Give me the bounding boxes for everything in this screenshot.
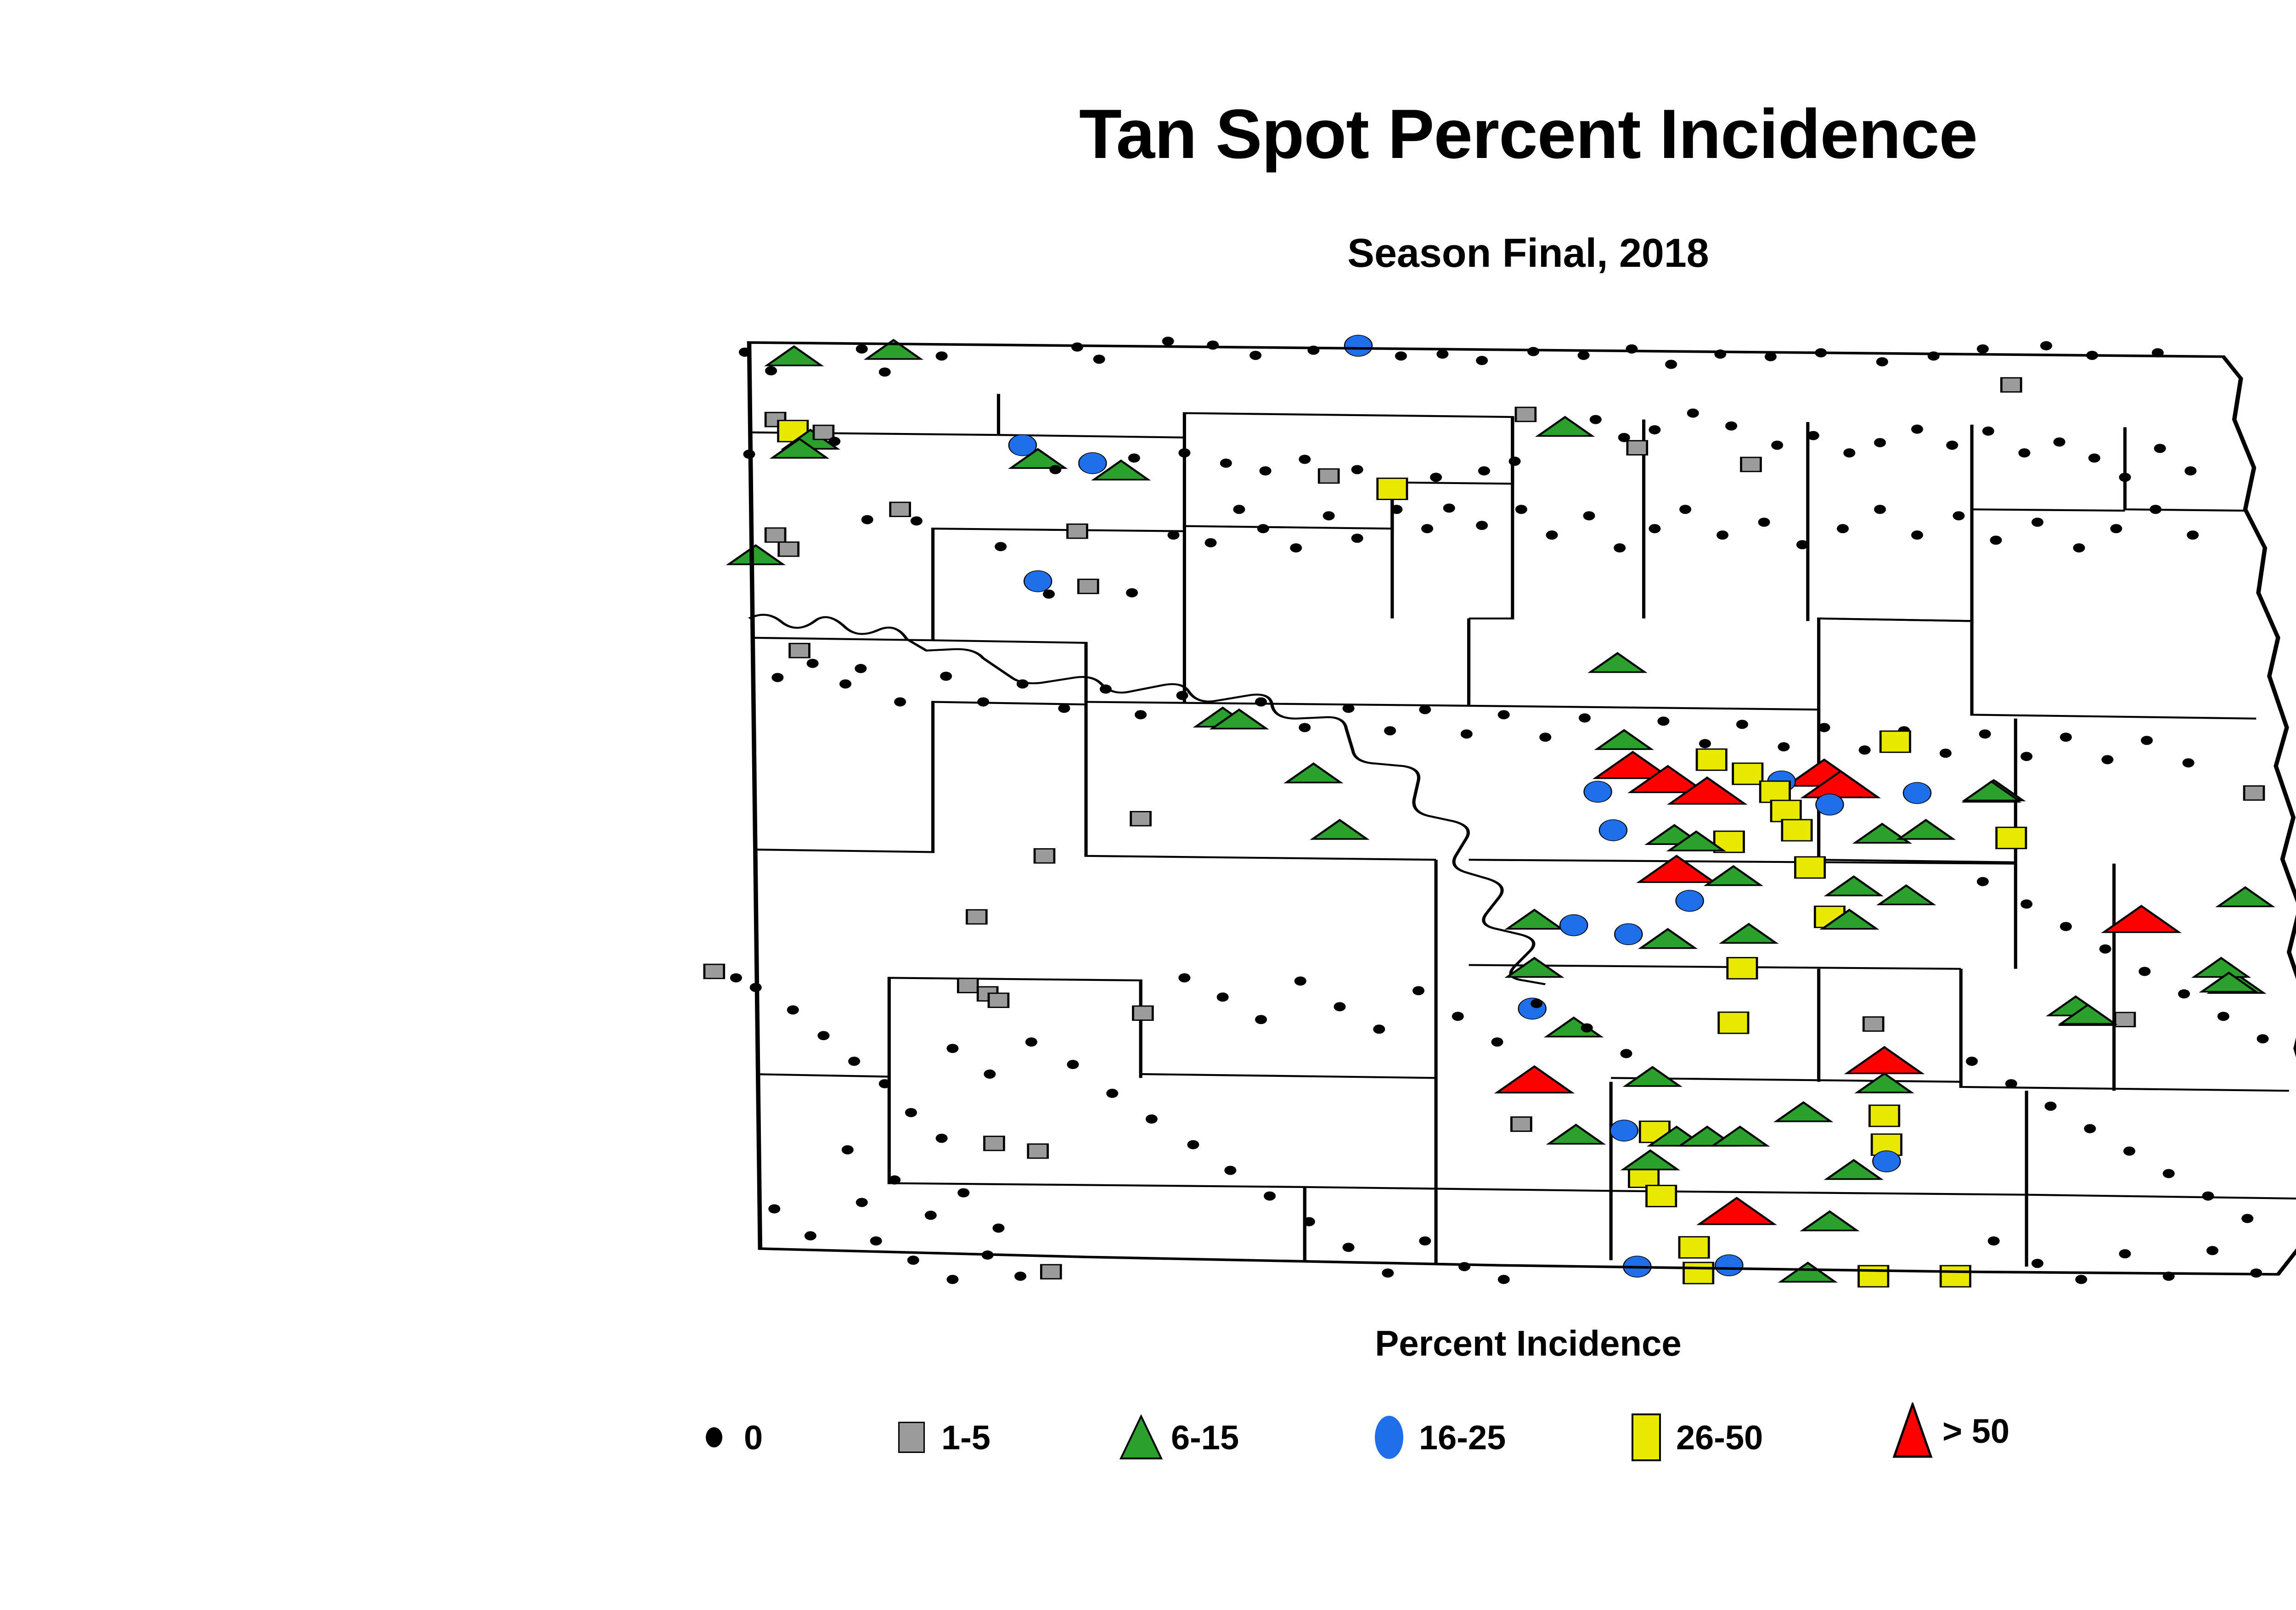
marker-0 [977, 697, 989, 706]
marker-0 [1135, 710, 1147, 719]
marker-0 [1421, 524, 1433, 533]
marker-0 [1665, 360, 1677, 369]
marker-26-50 [1859, 1266, 1888, 1287]
yellow-square-icon [1621, 1410, 1671, 1465]
legend-label-0: 0 [744, 1418, 763, 1457]
map-svg [670, 317, 2296, 1318]
marker-0 [1874, 505, 1886, 514]
marker-0 [1859, 745, 1871, 754]
marker-0 [1128, 453, 1140, 462]
marker-26-50 [1941, 1266, 1970, 1287]
marker-0 [1204, 538, 1216, 547]
marker-0 [839, 679, 851, 688]
marker-0 [856, 1198, 868, 1207]
legend-title: Percent Incidence [0, 1323, 2296, 1364]
marker-0 [1249, 351, 1261, 360]
marker-0 [911, 516, 923, 525]
marker-0 [1049, 465, 1061, 474]
marker-0 [2020, 900, 2032, 909]
marker-0 [1509, 456, 1521, 466]
marker-0 [1476, 356, 1488, 365]
marker-0 [1539, 732, 1551, 742]
marker-0 [1343, 1243, 1355, 1252]
marker-0 [2154, 444, 2166, 453]
marker-16-25 [1873, 1151, 1900, 1172]
marker-0 [1679, 505, 1691, 514]
marker-0 [1343, 704, 1355, 713]
marker-16-25 [1345, 335, 1372, 356]
marker-0 [1837, 524, 1849, 533]
marker-0 [1162, 337, 1174, 346]
marker-0 [936, 1134, 948, 1143]
marker-0 [1443, 503, 1455, 512]
marker-0 [1515, 505, 1527, 514]
marker-1-5 [704, 964, 724, 979]
marker-1-5 [779, 542, 799, 557]
marker-0 [1260, 466, 1272, 475]
marker-0 [1946, 440, 1958, 450]
marker-1-5 [985, 1137, 1004, 1151]
marker-0 [1058, 704, 1070, 713]
legend-label-2: 6-15 [1171, 1418, 1239, 1457]
marker-26-50 [1760, 781, 1790, 802]
marker-0 [2005, 1079, 2017, 1088]
marker-0 [2075, 1275, 2087, 1284]
marker-0 [1390, 505, 1402, 514]
marker-0 [2184, 466, 2196, 475]
marker-16-25 [1816, 794, 1843, 815]
marker-0 [1290, 543, 1302, 552]
marker-0 [2040, 341, 2052, 350]
marker-0 [946, 1275, 958, 1284]
marker-1-5 [1516, 407, 1536, 422]
marker-26-50 [1378, 478, 1407, 499]
green-triangle-icon [1116, 1410, 1166, 1465]
marker-0 [1373, 1025, 1385, 1034]
marker-0 [2183, 758, 2195, 767]
marker-0 [1207, 340, 1219, 349]
marker-16-25 [1024, 571, 1052, 592]
marker-0 [1977, 877, 1989, 886]
marker-26-50 [1679, 1237, 1709, 1258]
marker-1-5 [1035, 849, 1054, 863]
marker-16-25 [1560, 915, 1587, 936]
marker-1-5 [1028, 1144, 1048, 1158]
black-dot-icon [689, 1410, 739, 1465]
marker-0 [1257, 524, 1269, 533]
marker-1-5 [1627, 441, 1647, 455]
marker-0 [1299, 723, 1311, 732]
marker-0 [807, 659, 819, 668]
marker-0 [1126, 588, 1138, 597]
marker-0 [1657, 716, 1669, 726]
marker-0 [1911, 530, 1923, 540]
marker-0 [1220, 459, 1232, 468]
marker-0 [905, 1108, 917, 1117]
marker-0 [2150, 505, 2161, 514]
marker-0 [1187, 1140, 1199, 1149]
marker-0 [768, 1204, 780, 1213]
marker-1-5 [1068, 524, 1087, 538]
marker-16-25 [1584, 781, 1612, 802]
marker-0 [1071, 343, 1083, 352]
marker-0 [1294, 976, 1306, 985]
marker-1-5 [890, 502, 910, 517]
marker-1-5 [967, 910, 986, 924]
marker-0 [936, 351, 948, 360]
marker-0 [1299, 455, 1311, 464]
marker-0 [1100, 685, 1112, 694]
marker-0 [879, 367, 891, 377]
marker-26-50 [1880, 731, 1910, 752]
marker-26-50 [1795, 857, 1824, 878]
marker-0 [730, 973, 742, 982]
marker-0 [771, 673, 783, 682]
marker-0 [787, 1005, 799, 1014]
marker-26-50 [1733, 763, 1762, 784]
marker-0 [861, 515, 873, 524]
marker-0 [1498, 1275, 1510, 1284]
legend-item-4[interactable]: 26-50 [1621, 1410, 1763, 1465]
marker-26-50 [1869, 1105, 1899, 1126]
marker-0 [870, 1236, 882, 1245]
marker-0 [1581, 1023, 1593, 1032]
marker-0 [1583, 511, 1595, 520]
marker-1-5 [1319, 469, 1339, 483]
marker-0 [1395, 351, 1407, 360]
marker-0 [2206, 1246, 2218, 1255]
marker-0 [894, 697, 906, 706]
legend-item-1[interactable]: 1-5 [886, 1410, 990, 1465]
marker-0 [1255, 1015, 1267, 1024]
marker-0 [1436, 349, 1448, 359]
marker-0 [1498, 710, 1510, 719]
marker-0 [2099, 944, 2111, 953]
marker-0 [2084, 1124, 2096, 1133]
marker-1-5 [765, 528, 785, 542]
marker-0 [1736, 720, 1748, 729]
marker-0 [1017, 679, 1029, 688]
legend-label-5: > 50 [1942, 1412, 2009, 1451]
marker-1-5 [1078, 580, 1098, 594]
marker-26-50 [1782, 820, 1812, 841]
marker-0 [1940, 749, 1952, 758]
marker-0 [2073, 543, 2085, 552]
marker-0 [2032, 1259, 2043, 1268]
marker-0 [995, 542, 1007, 551]
marker-26-50 [1719, 1012, 1748, 1033]
marker-0 [957, 1188, 969, 1198]
marker-0 [1025, 1037, 1037, 1047]
blue-circle-icon [1364, 1410, 1414, 1465]
marker-0 [2163, 1169, 2175, 1178]
marker-0 [1146, 1115, 1158, 1124]
marker-0 [2141, 736, 2153, 745]
marker-0 [1546, 530, 1558, 540]
marker-0 [1491, 1037, 1503, 1047]
marker-0 [1579, 713, 1591, 722]
marker-16-25 [1676, 890, 1704, 912]
marker-0 [1382, 1268, 1394, 1278]
red-triangle-icon [1887, 1403, 1938, 1458]
marker-0 [1476, 521, 1488, 530]
marker-0 [1430, 473, 1442, 482]
marker-26-50 [1697, 749, 1726, 770]
marker-0 [1771, 440, 1783, 450]
marker-0 [992, 1223, 1004, 1233]
marker-0 [2054, 438, 2065, 447]
marker-0 [2020, 752, 2032, 761]
marker-16-25 [1079, 453, 1106, 474]
marker-0 [1478, 466, 1490, 475]
marker-1-5 [1133, 1006, 1153, 1020]
marker-1-5 [1741, 457, 1761, 472]
marker-26-50 [1647, 1185, 1676, 1206]
marker-0 [855, 664, 867, 673]
marker-0 [1649, 524, 1660, 533]
marker-0 [1807, 431, 1819, 440]
gray-square-icon [886, 1410, 937, 1465]
marker-1-5 [2115, 1013, 2135, 1027]
marker-0 [1531, 999, 1542, 1008]
marker-0 [2088, 453, 2100, 462]
legend-item-2[interactable]: 6-15 [1116, 1410, 1239, 1465]
marker-1-5 [2001, 378, 2021, 392]
marker-0 [2060, 732, 2072, 742]
marker-0 [1843, 448, 1855, 457]
marker-0 [828, 437, 840, 446]
marker-1-5 [1131, 811, 1151, 826]
marker-0 [765, 366, 777, 375]
marker-26-50 [1684, 1262, 1713, 1283]
legend-item-5[interactable]: > 50 [1887, 1403, 2009, 1458]
marker-0 [2101, 755, 2113, 764]
marker-1-5 [790, 643, 810, 658]
marker-0 [1452, 1012, 1464, 1021]
marker-0 [879, 1079, 891, 1088]
north-dakota-map [670, 317, 2296, 1318]
marker-26-50 [1771, 800, 1801, 822]
marker-0 [1351, 534, 1363, 543]
marker-0 [1067, 1060, 1079, 1069]
marker-0 [805, 1231, 816, 1240]
marker-0 [2119, 473, 2131, 482]
marker-0 [2119, 1249, 2131, 1258]
marker-16-25 [1715, 1255, 1743, 1276]
marker-26-50 [1997, 828, 2026, 849]
marker-0 [1796, 540, 1808, 549]
legend-label-4: 26-50 [1676, 1418, 1763, 1457]
marker-0 [1966, 1057, 1978, 1066]
marker-0 [2110, 524, 2122, 533]
page-title: Tan Spot Percent Incidence [0, 94, 2296, 175]
marker-0 [1953, 511, 1964, 520]
legend-label-1: 1-5 [941, 1418, 990, 1457]
marker-0 [1334, 1002, 1346, 1011]
marker-0 [1979, 729, 1991, 738]
legend-label-3: 16-25 [1419, 1418, 1506, 1457]
marker-0 [2032, 518, 2043, 527]
marker-0 [842, 1145, 854, 1154]
marker-0 [1043, 590, 1055, 599]
map-figure: Tan Spot Percent Incidence Season Final,… [0, 0, 2296, 1610]
marker-0 [1614, 543, 1626, 552]
marker-0 [1419, 1236, 1431, 1245]
marker-0 [1412, 986, 1424, 995]
marker-0 [1990, 535, 2002, 545]
marker-0 [889, 1176, 900, 1185]
marker-1-5 [1863, 1017, 1883, 1031]
legend-item-3[interactable]: 16-25 [1364, 1410, 1506, 1465]
marker-0 [925, 1210, 937, 1220]
marker-0 [1716, 530, 1728, 540]
marker-0 [1224, 1166, 1236, 1175]
marker-0 [2217, 1012, 2229, 1021]
marker-0 [1725, 422, 1737, 431]
marker-0 [1687, 409, 1699, 418]
marker-0 [2018, 448, 2030, 457]
marker-0 [1217, 992, 1229, 1002]
marker-0 [2241, 1214, 2253, 1223]
marker-0 [1323, 511, 1335, 520]
state-fill [749, 343, 2296, 1274]
marker-0 [2060, 922, 2072, 931]
marker-0 [1093, 355, 1105, 364]
marker-0 [1982, 427, 1994, 436]
marker-0 [2257, 1034, 2269, 1043]
marker-0 [946, 1044, 958, 1053]
marker-0 [1264, 1191, 1276, 1200]
marker-0 [1699, 739, 1711, 748]
marker-0 [2202, 1191, 2214, 1200]
marker-16-25 [1615, 923, 1642, 945]
marker-0 [1778, 742, 1790, 751]
marker-0 [1176, 691, 1188, 700]
marker-0 [2045, 1102, 2057, 1111]
marker-0 [1620, 1049, 1632, 1058]
marker-0 [2138, 967, 2150, 976]
marker-0 [1874, 438, 1886, 447]
marker-0 [856, 344, 868, 354]
marker-0 [1876, 357, 1888, 366]
marker-0 [1233, 505, 1245, 514]
marker-26-50 [1728, 957, 1757, 979]
marker-0 [1106, 1089, 1118, 1098]
marker-0 [1384, 726, 1396, 735]
marker-16-25 [1599, 820, 1627, 841]
legend-item-0[interactable]: 0 [689, 1410, 763, 1465]
marker-0 [1178, 973, 1190, 982]
marker-0 [907, 1255, 919, 1265]
marker-0 [1178, 448, 1190, 457]
legend: 0 1-5 6-15 16-25 26-50 > 50 [689, 1410, 2296, 1502]
marker-0 [1911, 425, 1923, 434]
marker-0 [1351, 465, 1363, 474]
marker-0 [1590, 415, 1602, 424]
marker-0 [848, 1057, 860, 1066]
marker-0 [940, 672, 952, 681]
marker-16-25 [1903, 782, 1931, 804]
marker-0 [2123, 1147, 2135, 1156]
marker-1-5 [2244, 786, 2264, 800]
marker-0 [2187, 530, 2199, 540]
marker-0 [1255, 697, 1267, 706]
marker-0 [1758, 518, 1770, 527]
marker-1-5 [1511, 1117, 1531, 1132]
marker-0 [1419, 705, 1431, 714]
marker-16-25 [1610, 1120, 1638, 1141]
marker-0 [1578, 351, 1590, 360]
marker-1-5 [989, 993, 1008, 1008]
marker-0 [1461, 729, 1473, 738]
marker-1-5 [958, 979, 978, 993]
marker-0 [1977, 344, 1989, 354]
marker-0 [1303, 1217, 1315, 1226]
marker-0 [1014, 1272, 1026, 1281]
marker-0 [2178, 989, 2190, 998]
marker-0 [1527, 347, 1539, 356]
marker-0 [1168, 530, 1180, 540]
marker-0 [1649, 425, 1660, 434]
marker-1-5 [1041, 1265, 1061, 1279]
marker-1-5 [814, 425, 833, 439]
marker-0 [817, 1031, 829, 1040]
marker-0 [1818, 723, 1830, 732]
page-subtitle: Season Final, 2018 [0, 230, 2296, 276]
marker-0 [984, 1070, 996, 1079]
marker-0 [1988, 1236, 2000, 1245]
